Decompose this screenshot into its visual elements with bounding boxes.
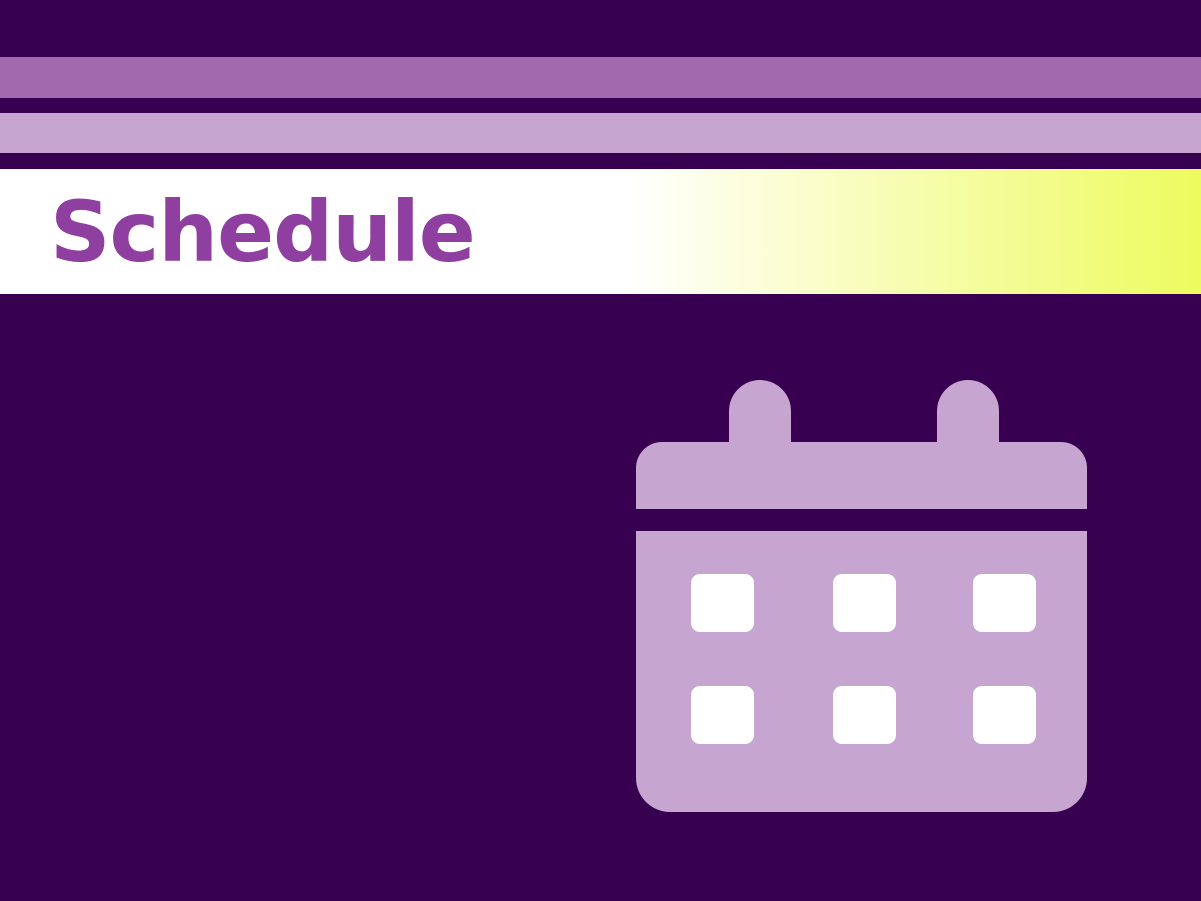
slide-canvas: Schedule xyxy=(0,0,1201,901)
day-cell-3 xyxy=(973,574,1036,632)
day-cell-4 xyxy=(691,686,754,744)
calendar-header-bar xyxy=(636,442,1087,509)
primary-accent-bar xyxy=(0,57,1201,98)
title-banner: Schedule xyxy=(0,169,1201,294)
secondary-accent-bar xyxy=(0,113,1201,153)
day-cell-5 xyxy=(833,686,896,744)
day-cell-2 xyxy=(833,574,896,632)
day-cell-6 xyxy=(973,686,1036,744)
day-cell-1 xyxy=(691,574,754,632)
page-title: Schedule xyxy=(0,190,475,274)
calendar-icon xyxy=(636,378,1087,814)
calendar-body xyxy=(636,531,1087,812)
